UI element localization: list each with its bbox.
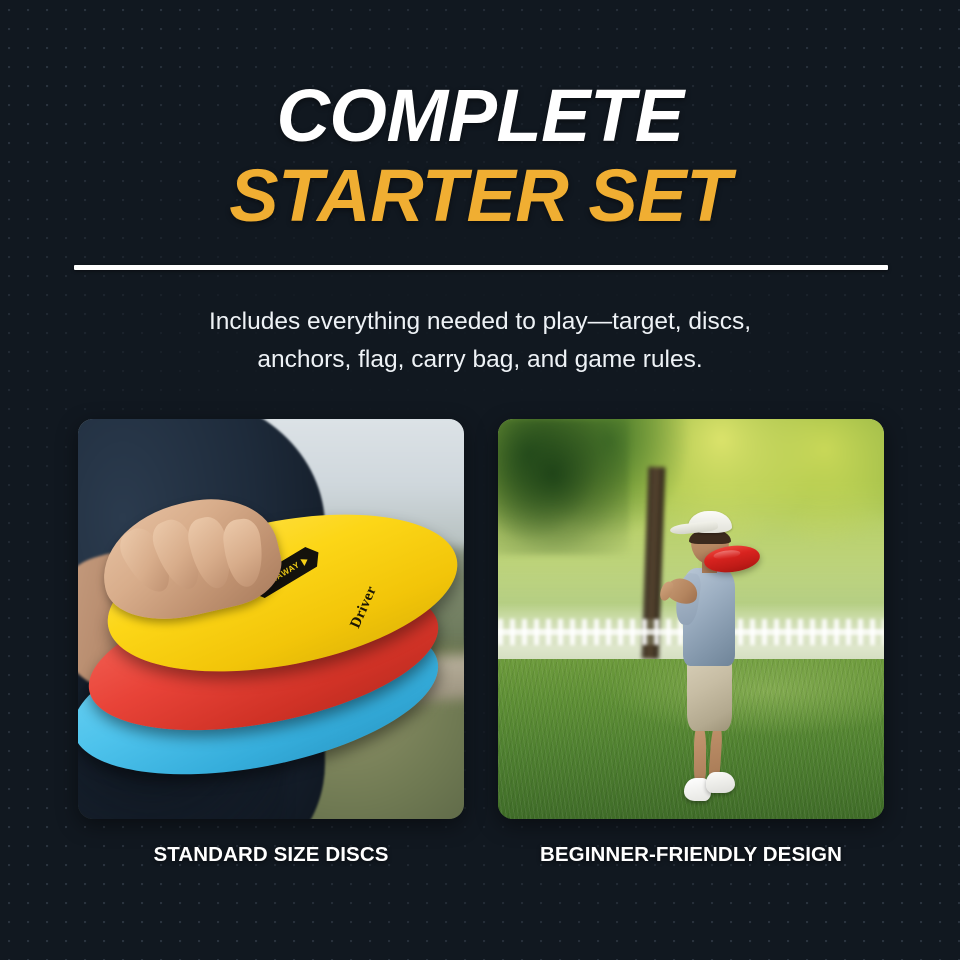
photo-stacked-discs: HATHAWAY Driver xyxy=(78,419,464,819)
poster-canvas: COMPLETE STARTER SET Includes everything… xyxy=(0,0,960,960)
caption-beginner-friendly-design: BEGINNER-FRIENDLY DESIGN xyxy=(498,843,884,867)
khaki-shorts xyxy=(687,655,732,731)
headline-line-1: COMPLETE xyxy=(0,76,960,156)
subtitle-block: Includes everything needed to play—targe… xyxy=(150,303,810,379)
triangle-logo-icon xyxy=(300,556,309,566)
disc-highlight xyxy=(713,549,741,560)
headline-block: COMPLETE STARTER SET xyxy=(0,76,960,236)
photo-boy-throwing-disc xyxy=(498,419,884,819)
boy-figure xyxy=(660,503,760,807)
headline-line-2: STARTER SET xyxy=(0,156,960,236)
subtitle-line-1: Includes everything needed to play—targe… xyxy=(150,303,810,341)
caption-row: STANDARD SIZE DISCS BEGINNER-FRIENDLY DE… xyxy=(78,843,884,867)
leg-left xyxy=(694,725,706,786)
shoe-right xyxy=(706,772,735,793)
photo-card-standard-size-discs: HATHAWAY Driver xyxy=(78,419,464,819)
caption-standard-size-discs: STANDARD SIZE DISCS xyxy=(78,843,464,867)
dark-foliage xyxy=(498,419,629,555)
photo-card-beginner-friendly-design xyxy=(498,419,884,819)
divider-rule xyxy=(74,265,888,270)
photo-card-row: HATHAWAY Driver xyxy=(78,419,884,819)
subtitle-line-2: anchors, flag, carry bag, and game rules… xyxy=(150,341,810,379)
